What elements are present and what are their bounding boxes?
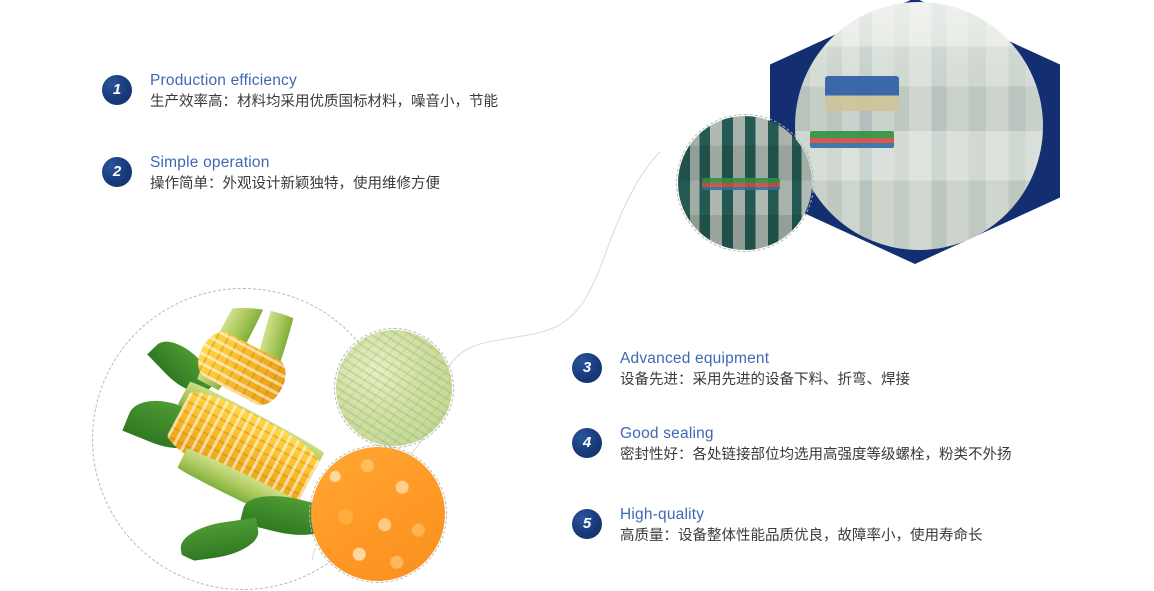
feature-item-1: 1 Production efficiency 生产效率高：材料均采用优质国标材…	[102, 75, 498, 113]
feature-item-5: 5 High-quality 高质量：设备整体性能品质优良，故障率小，使用寿命长	[572, 509, 983, 547]
feature-item-4: 4 Good sealing 密封性好：各处链接部位均选用高强度等级螺栓，粉类不…	[572, 428, 1012, 466]
feature-item-2: 2 Simple operation 操作简单：外观设计新颖独特，使用维修方便	[102, 157, 440, 195]
feature-number-badge-3: 3	[572, 353, 602, 383]
feature-title-1: Production efficiency	[150, 71, 498, 91]
feature-title-4: Good sealing	[620, 424, 1012, 444]
feature-item-3: 3 Advanced equipment 设备先进：采用先进的设备下料、折弯、焊…	[572, 353, 910, 391]
feature-title-3: Advanced equipment	[620, 349, 910, 369]
feature-number-badge-5: 5	[572, 509, 602, 539]
factory-small-photo	[678, 116, 812, 250]
feature-number-badge-2: 2	[102, 157, 132, 187]
corn-kernels-photo	[311, 447, 445, 581]
feature-description-3: 设备先进：采用先进的设备下料、折弯、焊接	[620, 369, 910, 391]
feature-description-4: 密封性好：各处链接部位均选用高强度等级螺栓，粉类不外扬	[620, 444, 1012, 466]
feature-title-5: High-quality	[620, 505, 983, 525]
factory-large-photo	[795, 2, 1043, 250]
product-advantages-infographic: 1 Production efficiency 生产效率高：材料均采用优质国标材…	[0, 0, 1154, 591]
feature-number-badge-1: 1	[102, 75, 132, 105]
feature-description-5: 高质量：设备整体性能品质优良，故障率小，使用寿命长	[620, 525, 983, 547]
feature-title-2: Simple operation	[150, 153, 440, 173]
feature-description-1: 生产效率高：材料均采用优质国标材料，噪音小，节能	[150, 91, 498, 113]
corn-paste-photo	[336, 330, 452, 446]
feature-description-2: 操作简单：外观设计新颖独特，使用维修方便	[150, 173, 440, 195]
feature-number-badge-4: 4	[572, 428, 602, 458]
